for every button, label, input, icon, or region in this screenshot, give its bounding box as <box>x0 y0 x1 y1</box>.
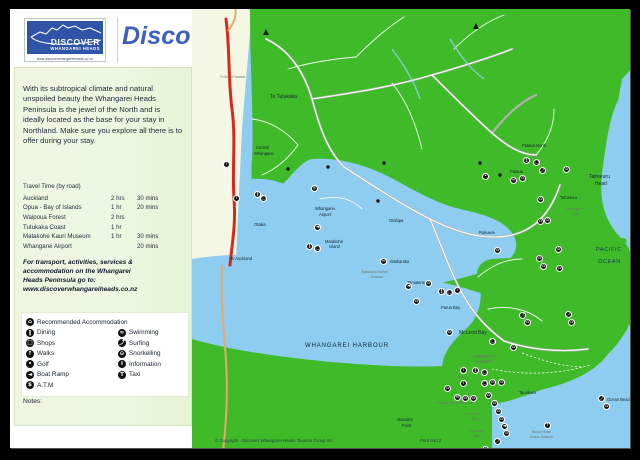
travel-time-row: Waipoua Forest2 hrs <box>23 213 187 223</box>
map-place-label: Rukuwai <box>479 230 495 235</box>
map-poi-marker[interactable]: □ <box>481 369 488 376</box>
map-place-label: Central <box>256 145 269 150</box>
map-poi-marker[interactable]: $ <box>311 185 318 192</box>
map-poi-marker[interactable]: ‖ <box>438 288 445 295</box>
map-place-label: OCEAN <box>598 259 621 265</box>
map-place-label: WHANGAREI HARBOUR <box>305 343 389 349</box>
legend-item: •Golf <box>26 359 118 369</box>
legend-item-label: Golf <box>37 361 49 368</box>
map-poi-marker[interactable]: ‖ <box>306 243 313 250</box>
map-poi-marker[interactable]: ⌂ <box>470 395 477 402</box>
legend-item: TTaxi <box>118 370 188 380</box>
map-place-label: McGregor's <box>566 207 583 211</box>
map-place-label: Darch <box>457 375 466 379</box>
travel-time-table: Travel Time (by road) Auckland2 hrs30 mi… <box>23 183 187 251</box>
legend-item: ⤴Surfing <box>118 338 188 348</box>
map-place-label: Island <box>329 244 340 249</box>
map-place-label: To Auckland <box>230 256 252 261</box>
map-poi-marker[interactable]: ⤴ <box>519 312 526 319</box>
map-place-label: Head <box>595 181 607 187</box>
map-place-label: Whangarei <box>315 206 335 211</box>
map-poi-marker[interactable]: ⌂ <box>446 329 453 336</box>
map-place-label: Taurikura <box>519 390 536 395</box>
map-place-label: Otaika <box>254 222 266 227</box>
map-poi-marker[interactable]: i <box>454 287 461 294</box>
map-poi-marker[interactable]: ≈ <box>380 258 387 265</box>
map-poi-marker[interactable]: • <box>482 173 489 180</box>
map-poi-marker[interactable]: ⌂ <box>498 379 505 386</box>
travel-hours: 2 hrs <box>111 213 137 223</box>
map-poi-marker[interactable]: T <box>460 380 467 387</box>
map-poi-marker[interactable]: ⊖ <box>454 394 461 401</box>
header-divider <box>117 17 118 63</box>
map-place-label: Urquharts <box>465 412 479 416</box>
travel-hours: 1 hr <box>111 232 137 242</box>
map-poi-marker[interactable]: □ <box>314 245 321 252</box>
travel-destination: Tutukaka Coast <box>23 222 111 232</box>
logo-website-url: www.discoverwhangareiheads.co.nz <box>25 56 105 61</box>
map-place-label: Taiharuru <box>589 174 610 180</box>
printed-map-page: DISCOVER WHANGAREI HEADS www.discoverwha… <box>10 9 630 448</box>
map-place-label: Otahipa <box>389 218 403 223</box>
map-poi-marker[interactable]: ⤴ <box>565 311 572 318</box>
travel-destination: Waipoua Forest <box>23 213 111 223</box>
legend-column-left: ⌂Recommended Accommodation‖Dining□Shops↑… <box>26 317 118 391</box>
travel-time-row: Auckland2 hrs30 mins <box>23 194 187 204</box>
golf-icon: • <box>26 360 34 368</box>
map-poi-marker[interactable]: ⌂ <box>536 255 543 262</box>
legend-item: ◄Boat Ramp <box>26 370 118 380</box>
legend-column-right: ≈Swimming⤴Surfing⊖SnorkellingiInformatio… <box>118 317 188 380</box>
legend-item: ⌂Recommended Accommodation <box>26 317 118 327</box>
call-to-action-block: For transport, activities, services & ac… <box>23 258 185 294</box>
travel-time-row: Tutukaka Coast1 hr <box>23 222 187 232</box>
map-artwork <box>192 9 630 448</box>
map-place-label: Taiharuru <box>560 195 577 200</box>
map-poi-marker[interactable]: ⌂ <box>563 166 570 173</box>
logo-subtitle: WHANGAREI HEADS <box>27 46 100 51</box>
legend-item: ⊖Snorkelling <box>118 349 188 359</box>
legend-item: ≈Swimming <box>118 328 188 338</box>
information-icon: i <box>118 360 126 368</box>
travel-minutes: 20 mins <box>137 241 187 251</box>
snorkelling-icon: ⊖ <box>118 350 126 358</box>
whangarei-heads-map[interactable]: To Bay of IslandsTo TutukakaCentralWhang… <box>192 9 630 448</box>
map-legend: ⌂Recommended Accommodation‖Dining□Shops↑… <box>21 312 189 397</box>
legend-item-label: Taxi <box>129 371 140 378</box>
map-poi-marker[interactable]: ⌂ <box>603 403 610 410</box>
surfing-icon: ⤴ <box>118 339 126 347</box>
screenshot-frame: DISCOVER WHANGAREI HEADS www.discoverwha… <box>0 0 640 460</box>
map-place-label: Waikaraka Marine <box>361 270 387 274</box>
map-poi-marker[interactable]: ‖ <box>472 367 479 374</box>
map-place-label: Reserve <box>371 275 383 279</box>
map-poi-marker[interactable]: i <box>460 367 467 374</box>
map-poi-marker[interactable]: ⌂ <box>498 416 505 423</box>
map-poi-marker[interactable]: ⤴ <box>598 395 605 402</box>
legend-item-label: Dining <box>37 329 55 336</box>
notes-label: Notes: <box>23 398 42 405</box>
map-place-label: Pataua <box>510 169 523 174</box>
map-place-label: Point <box>402 423 411 428</box>
travel-destination: Opua - Bay of Islands <box>23 203 111 213</box>
map-poi-marker[interactable]: ⌂ <box>544 217 551 224</box>
map-place-label: To Bay of Islands <box>220 75 245 79</box>
map-place-label: PACIFIC <box>596 247 622 253</box>
print-date-text: Print 03/12 <box>420 438 441 443</box>
cta-line-2: accommodation on the Whangarei <box>23 267 185 276</box>
info-sidebar: With its subtropical climate and natural… <box>14 67 192 426</box>
map-place-label: Bay <box>573 212 579 216</box>
map-poi-marker[interactable]: ⌂ <box>510 344 517 351</box>
travel-destination: Whangarei Airport <box>23 241 111 251</box>
legend-item-label: A.T.M <box>37 382 53 389</box>
intro-paragraph: With its subtropical climate and natural… <box>23 84 183 146</box>
map-poi-marker[interactable]: i <box>233 195 240 202</box>
map-place-label: Whangarei <box>254 151 274 156</box>
travel-destination: Auckland <box>23 194 111 204</box>
travel-time-row: Matakohe Kauri Museum1 hr30 mins <box>23 232 187 242</box>
legend-item-label: Surfing <box>129 340 149 347</box>
travel-hours <box>111 241 137 251</box>
map-poi-marker[interactable]: ⌂ <box>413 298 420 305</box>
swimming-icon: ≈ <box>118 329 126 337</box>
map-poi-marker[interactable]: ≈ <box>510 177 517 184</box>
map-place-label: Ocean Beach <box>607 397 630 402</box>
legend-item: ↑Walks <box>26 349 118 359</box>
travel-minutes: 30 mins <box>137 232 187 242</box>
dining-icon: ‖ <box>26 329 34 337</box>
legend-item: ‖Dining <box>26 328 118 338</box>
map-poi-marker[interactable]: ↑ <box>544 422 551 429</box>
discover-whangarei-heads-logo: DISCOVER WHANGAREI HEADS www.discoverwha… <box>24 18 106 62</box>
legend-item-label: Walks <box>37 350 54 357</box>
map-poi-marker[interactable]: ⌂ <box>555 246 562 253</box>
map-poi-marker[interactable]: □ <box>481 380 488 387</box>
legend-item-label: Information <box>129 361 161 368</box>
cta-line-1: For transport, activities, services & <box>23 258 185 267</box>
map-poi-marker[interactable]: ⌂ <box>568 319 575 326</box>
legend-item: iInformation <box>118 359 188 369</box>
map-place-label: Airport <box>319 212 331 217</box>
map-place-label: Norfolk Avenue <box>475 354 497 358</box>
map-poi-marker[interactable]: ⌂ <box>537 218 544 225</box>
map-poi-marker[interactable]: ‖ <box>523 157 530 164</box>
page-footer: © Copyright - Discover Whangarei Heads T… <box>10 430 630 444</box>
map-poi-marker[interactable]: i <box>223 161 230 168</box>
travel-hours: 2 hrs <box>111 194 137 204</box>
travel-minutes <box>137 213 187 223</box>
travel-time-rows: Auckland2 hrs30 minsOpua - Bay of Island… <box>23 194 187 252</box>
map-place-label: Reotahi Marine Reserve <box>437 401 473 405</box>
legend-item-label: Shops <box>37 340 55 347</box>
map-poi-marker[interactable]: ⌂ <box>491 400 498 407</box>
map-poi-marker[interactable]: ⌂ <box>489 379 496 386</box>
map-poi-marker[interactable]: ⌂ <box>495 408 502 415</box>
atm-icon: $ <box>26 381 34 389</box>
travel-time-row: Whangarei Airport20 mins <box>23 241 187 251</box>
page-body: With its subtropical climate and natural… <box>10 67 630 448</box>
travel-minutes: 30 mins <box>137 194 187 204</box>
cta-line-3: Heads Peninsula go to: <box>23 276 185 285</box>
map-place-label: To Tutukaka <box>270 94 297 100</box>
taxi-icon: T <box>118 371 126 379</box>
copyright-text: © Copyright - Discover Whangarei Heads T… <box>215 438 334 443</box>
map-poi-marker[interactable]: ⌂ <box>425 280 432 287</box>
boat-ramp-icon: ◄ <box>26 371 34 379</box>
map-poi-marker[interactable]: ⌂ <box>519 175 526 182</box>
map-poi-marker[interactable]: ⌂ <box>462 395 469 402</box>
travel-hours: 1 hr <box>111 203 137 213</box>
map-poi-marker[interactable]: ⌂ <box>537 196 544 203</box>
map-place-label: McLeod Bay <box>459 330 487 336</box>
map-poi-marker[interactable]: ⌂ <box>524 319 531 326</box>
map-place-label: Marsden <box>397 417 413 422</box>
map-poi-marker[interactable]: □ <box>489 338 496 345</box>
map-poi-marker[interactable]: □ <box>260 195 267 202</box>
map-place-label: Lookout <box>481 359 493 363</box>
shops-icon: □ <box>26 339 34 347</box>
travel-hours: 1 hr <box>111 222 137 232</box>
legend-spacer <box>118 317 188 328</box>
legend-item: $A.T.M <box>26 380 118 390</box>
map-place-label: Pataua North <box>522 143 546 148</box>
cta-website-link[interactable]: www.discoverwhangareiheads.co.nz <box>23 285 185 294</box>
accommodation-icon: ⌂ <box>26 318 34 326</box>
travel-time-heading: Travel Time (by road) <box>23 183 187 190</box>
legend-item-label: Swimming <box>129 329 158 336</box>
legend-item-label: Snorkelling <box>129 350 161 357</box>
map-poi-marker[interactable]: ◄ <box>314 224 321 231</box>
map-poi-marker[interactable]: □ <box>446 289 453 296</box>
travel-minutes: 20 mins <box>137 203 187 213</box>
walks-icon: ↑ <box>26 350 34 358</box>
map-poi-marker[interactable]: □ <box>533 159 540 166</box>
map-poi-marker[interactable]: ⌂ <box>485 392 492 399</box>
travel-destination: Matakohe Kauri Museum <box>23 232 111 242</box>
map-poi-marker[interactable]: ⌂ <box>482 446 489 448</box>
map-poi-marker[interactable]: ⌂ <box>556 265 563 272</box>
logo-blue-box: DISCOVER WHANGAREI HEADS <box>27 21 103 54</box>
legend-item-label: Recommended Accommodation <box>37 319 128 326</box>
legend-item-label: Boat Ramp <box>37 371 69 378</box>
map-place-label: Waikaraka <box>390 259 409 264</box>
travel-time-row: Opua - Bay of Islands1 hr20 mins <box>23 203 187 213</box>
map-poi-marker[interactable]: ⌂ <box>494 247 501 254</box>
map-poi-marker[interactable]: ◄ <box>501 423 508 430</box>
map-poi-marker[interactable]: ⤴ <box>539 167 546 174</box>
map-poi-marker[interactable]: ◄ <box>405 283 412 290</box>
map-poi-marker[interactable]: ⌂ <box>540 263 547 270</box>
map-poi-marker[interactable]: ⌂ <box>444 385 451 392</box>
legend-item: □Shops <box>26 338 118 348</box>
travel-minutes <box>137 222 187 232</box>
map-place-label: Parua Bay <box>441 305 460 310</box>
map-place-label: Bay <box>472 417 478 421</box>
